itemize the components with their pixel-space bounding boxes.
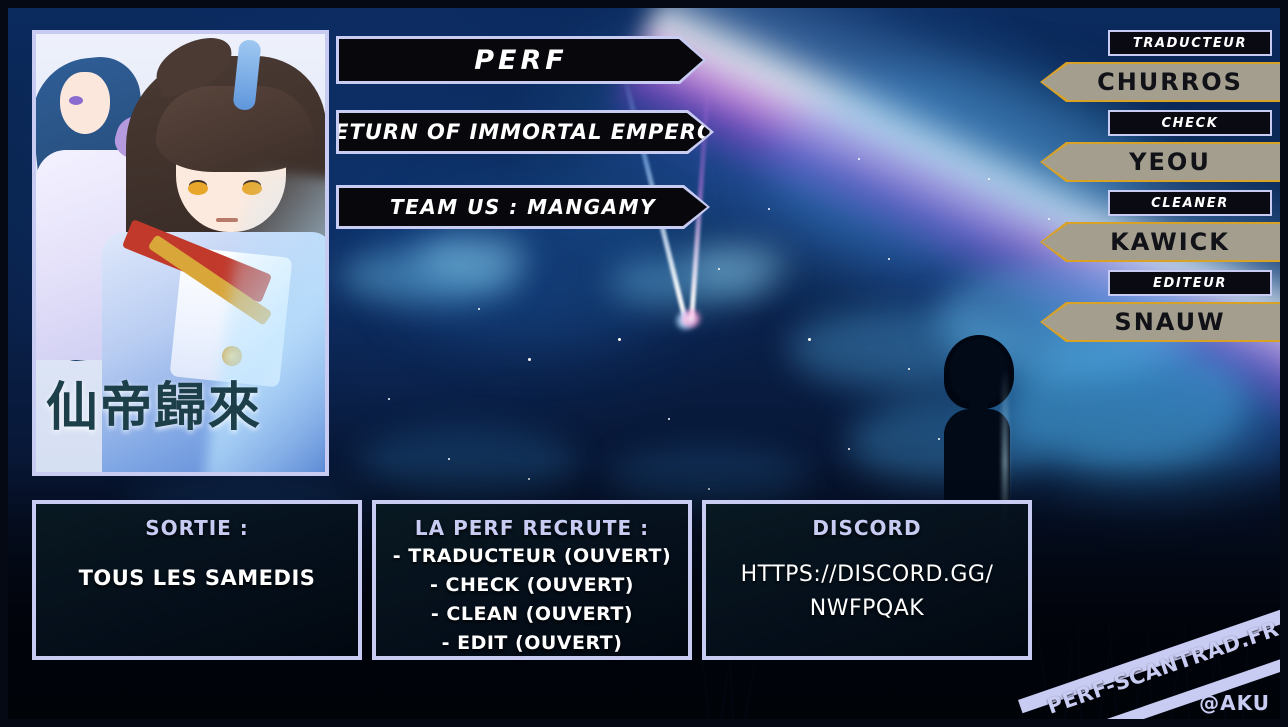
- cover-girl-face: [60, 72, 110, 134]
- panel-discord-body[interactable]: HTTPS://DISCORD.GG/ NWFPQAK: [741, 558, 994, 626]
- banner-series-title: RETURN OF IMMORTAL EMPEROR: [336, 110, 714, 154]
- banner-team-us-text: TEAM US : MANGAMY: [390, 195, 656, 219]
- star: [908, 368, 910, 370]
- star: [768, 208, 770, 210]
- banner-team-name: PERF: [336, 36, 706, 84]
- credit-name-tag: YEOU: [1040, 142, 1280, 182]
- star: [618, 338, 621, 341]
- star: [478, 308, 480, 310]
- banner-team-us: TEAM US : MANGAMY: [336, 185, 710, 229]
- series-cover-art: 仙帝歸來: [32, 30, 329, 476]
- star: [808, 338, 811, 341]
- scantrad-credits-page: 仙帝歸來 PERF RETURN OF IMMORTAL EMPEROR TEA…: [0, 0, 1288, 727]
- banner-series-title-text: RETURN OF IMMORTAL EMPEROR: [317, 120, 733, 144]
- credit-entry-check: CHECK YEOU: [1030, 110, 1280, 182]
- panel-release-body: TOUS LES SAMEDIS: [79, 564, 316, 592]
- credit-role-label: CHECK: [1162, 116, 1219, 131]
- star: [528, 358, 531, 361]
- cover-girl-eye: [69, 96, 83, 105]
- star: [668, 418, 670, 420]
- star: [888, 258, 890, 260]
- silhouette-head: [950, 339, 1008, 403]
- cover-illustration: 仙帝歸來: [36, 34, 325, 472]
- cloud: [688, 244, 788, 286]
- recruitment-line: - CLEAN (OUVERT): [393, 600, 671, 629]
- credit-role-tag: CLEANER: [1108, 190, 1272, 216]
- panel-discord: DISCORD HTTPS://DISCORD.GG/ NWFPQAK: [702, 500, 1032, 660]
- credit-role-tag: TRADUCTEUR: [1108, 30, 1272, 56]
- cover-boy-eye-left: [188, 182, 208, 195]
- panel-recruitment-heading: LA PERF RECRUTE :: [415, 516, 649, 540]
- credit-name-tag: SNAUW: [1040, 302, 1280, 342]
- credits-list: TRADUCTEUR CHURROS CHECK YEOU: [1030, 30, 1280, 350]
- panel-release-heading: SORTIE :: [145, 516, 249, 540]
- panel-discord-heading: DISCORD: [812, 516, 921, 540]
- banner-team-name-text: PERF: [474, 45, 567, 76]
- star: [988, 178, 990, 180]
- cover-title-cjk: 仙帝歸來: [46, 368, 296, 448]
- star: [718, 268, 720, 270]
- panel-recruitment-body: - TRADUCTEUR (OUVERT) - CHECK (OUVERT) -…: [393, 542, 671, 658]
- credit-name-tag: CHURROS: [1040, 62, 1280, 102]
- panel-recruitment: LA PERF RECRUTE : - TRADUCTEUR (OUVERT) …: [372, 500, 692, 660]
- star: [858, 158, 860, 160]
- cloud: [418, 234, 528, 280]
- panel-release-schedule: SORTIE : TOUS LES SAMEDIS: [32, 500, 362, 660]
- credit-name-tag: KAWICK: [1040, 222, 1280, 262]
- credit-role-tag: CHECK: [1108, 110, 1272, 136]
- credit-name-label: YEOU: [1111, 148, 1211, 176]
- credit-entry-editeur: EDITEUR SNAUW: [1030, 270, 1280, 342]
- credit-entry-traducteur: TRADUCTEUR CHURROS: [1030, 30, 1280, 102]
- credit-name-label: KAWICK: [1092, 228, 1230, 256]
- credit-role-label: EDITEUR: [1153, 276, 1227, 291]
- discord-url-line2[interactable]: NWFPQAK: [741, 592, 994, 626]
- credit-name-label: SNAUW: [1096, 308, 1225, 336]
- recruitment-line: - EDIT (OUVERT): [393, 629, 671, 658]
- credit-entry-cleaner: CLEANER KAWICK: [1030, 190, 1280, 262]
- credit-role-label: TRADUCTEUR: [1133, 36, 1247, 51]
- star: [388, 398, 390, 400]
- credit-role-label: CLEANER: [1151, 196, 1229, 211]
- artist-signature: @AKU: [1199, 691, 1270, 715]
- star: [848, 448, 850, 450]
- recruitment-line: - TRADUCTEUR (OUVERT): [393, 542, 671, 571]
- credit-name-label: CHURROS: [1079, 68, 1243, 96]
- cover-boy-mouth: [216, 218, 238, 222]
- recruitment-line: - CHECK (OUVERT): [393, 571, 671, 600]
- credit-role-tag: EDITEUR: [1108, 270, 1272, 296]
- discord-url-line1[interactable]: HTTPS://DISCORD.GG/: [741, 558, 994, 592]
